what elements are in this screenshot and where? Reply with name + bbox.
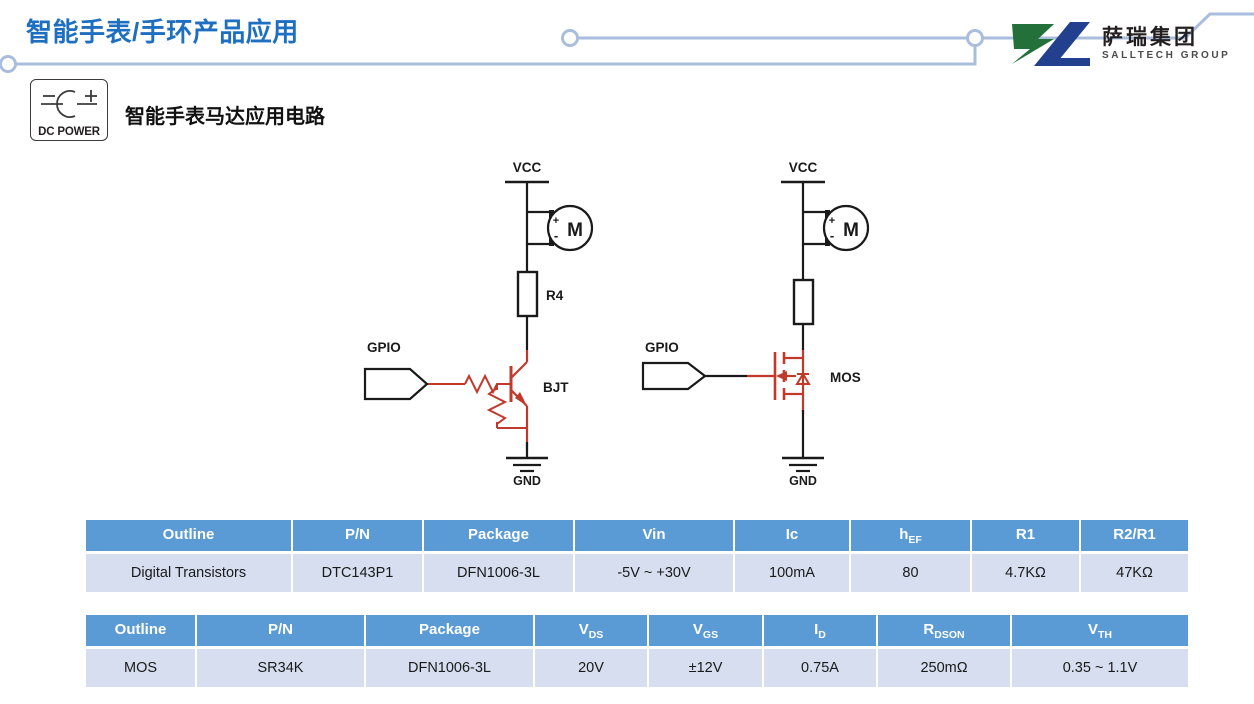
deco-node-left bbox=[1, 57, 16, 72]
bjt-resistor-label: R4 bbox=[546, 288, 564, 303]
mos-device-label: MOS bbox=[830, 370, 861, 385]
col-pn: P/N bbox=[197, 615, 366, 649]
bjt-resistor-r4 bbox=[518, 272, 537, 316]
cell-vth: 0.35 ~ 1.1V bbox=[1012, 649, 1188, 687]
circuit-diagrams: VCC M + - R4 BJT bbox=[0, 140, 1254, 505]
bjt-gpio-port bbox=[365, 369, 427, 399]
cell-pn: SR34K bbox=[197, 649, 366, 687]
bjt-ground-symbol bbox=[506, 458, 548, 471]
col-outline: Outline bbox=[86, 520, 293, 554]
deco-node-middle bbox=[563, 31, 578, 46]
cell-r2r1: 47KΩ bbox=[1081, 554, 1188, 592]
col-r2r1: R2/R1 bbox=[1081, 520, 1188, 554]
dc-power-label: DC POWER bbox=[31, 126, 107, 138]
bjt-gnd-label: GND bbox=[513, 474, 541, 488]
mos-motor-label: M bbox=[843, 220, 859, 241]
cell-ic: 100mA bbox=[735, 554, 851, 592]
col-hef: hEF bbox=[851, 520, 972, 554]
company-logo: 萨瑞集团 SALLTECH GROUP bbox=[1008, 18, 1248, 70]
mos-gpio-label: GPIO bbox=[645, 340, 679, 355]
col-package: Package bbox=[424, 520, 575, 554]
mos-motor-plus: + bbox=[829, 215, 835, 227]
table-row: Digital Transistors DTC143P1 DFN1006-3L … bbox=[86, 554, 1188, 592]
cell-package: DFN1006-3L bbox=[424, 554, 575, 592]
col-id: ID bbox=[764, 615, 878, 649]
digital-transistor-spec-table: Outline P/N Package Vin Ic hEF R1 R2/R1 … bbox=[86, 520, 1188, 592]
logo-text-block: 萨瑞集团 SALLTECH GROUP bbox=[1102, 27, 1230, 60]
col-r1: R1 bbox=[972, 520, 1081, 554]
cell-rdson: 250mΩ bbox=[878, 649, 1012, 687]
section-title: 智能手表马达应用电路 bbox=[125, 100, 325, 129]
col-vth: VTH bbox=[1012, 615, 1188, 649]
col-vin: Vin bbox=[575, 520, 735, 554]
mos-gnd-label: GND bbox=[789, 474, 817, 488]
table-header-row: Outline P/N Package VDS VGS ID RDSON VTH bbox=[86, 615, 1188, 649]
bjt-gpio-label: GPIO bbox=[367, 340, 401, 355]
col-ic: Ic bbox=[735, 520, 851, 554]
cell-vgs: ±12V bbox=[649, 649, 764, 687]
logo-name-en: SALLTECH GROUP bbox=[1102, 50, 1230, 61]
col-pn: P/N bbox=[293, 520, 424, 554]
deco-node-right bbox=[968, 31, 983, 46]
bjt-circuit: VCC M + - R4 BJT bbox=[365, 160, 592, 488]
mos-resistor bbox=[794, 280, 813, 324]
col-rdson: RDSON bbox=[878, 615, 1012, 649]
cell-pn: DTC143P1 bbox=[293, 554, 424, 592]
bjt-motor-plus: + bbox=[553, 215, 559, 227]
col-outline: Outline bbox=[86, 615, 197, 649]
cell-vds: 20V bbox=[535, 649, 649, 687]
col-vds: VDS bbox=[535, 615, 649, 649]
bjt-device-label: BJT bbox=[543, 380, 569, 395]
slide-page: 智能手表/手环产品应用 萨瑞集团 SALLTECH GROUP DC POWER… bbox=[0, 0, 1254, 704]
mos-ground-symbol bbox=[782, 458, 824, 471]
cell-vin: -5V ~ +30V bbox=[575, 554, 735, 592]
dc-power-symbol-icon bbox=[35, 82, 105, 122]
cell-id: 0.75A bbox=[764, 649, 878, 687]
mos-vcc-label: VCC bbox=[789, 160, 818, 175]
page-title: 智能手表/手环产品应用 bbox=[26, 12, 299, 49]
bjt-vcc-label: VCC bbox=[513, 160, 542, 175]
salltech-logo-icon bbox=[1008, 20, 1094, 68]
mosfet-spec-table: Outline P/N Package VDS VGS ID RDSON VTH… bbox=[86, 615, 1188, 687]
mos-circuit: VCC M + - bbox=[643, 160, 868, 488]
cell-package: DFN1006-3L bbox=[366, 649, 535, 687]
bjt-motor-label: M bbox=[567, 220, 583, 241]
cell-hef: 80 bbox=[851, 554, 972, 592]
mos-device-symbol bbox=[747, 350, 809, 414]
bjt-motor-minus: - bbox=[554, 228, 558, 243]
table-header-row: Outline P/N Package Vin Ic hEF R1 R2/R1 bbox=[86, 520, 1188, 554]
cell-outline: MOS bbox=[86, 649, 197, 687]
col-package: Package bbox=[366, 615, 535, 649]
cell-r1: 4.7KΩ bbox=[972, 554, 1081, 592]
col-vgs: VGS bbox=[649, 615, 764, 649]
dc-power-icon: DC POWER bbox=[30, 79, 108, 141]
mos-motor-minus: - bbox=[830, 228, 834, 243]
table-row: MOS SR34K DFN1006-3L 20V ±12V 0.75A 250m… bbox=[86, 649, 1188, 687]
mos-gpio-port bbox=[643, 363, 705, 389]
logo-name-cn: 萨瑞集团 bbox=[1102, 27, 1230, 49]
cell-outline: Digital Transistors bbox=[86, 554, 293, 592]
